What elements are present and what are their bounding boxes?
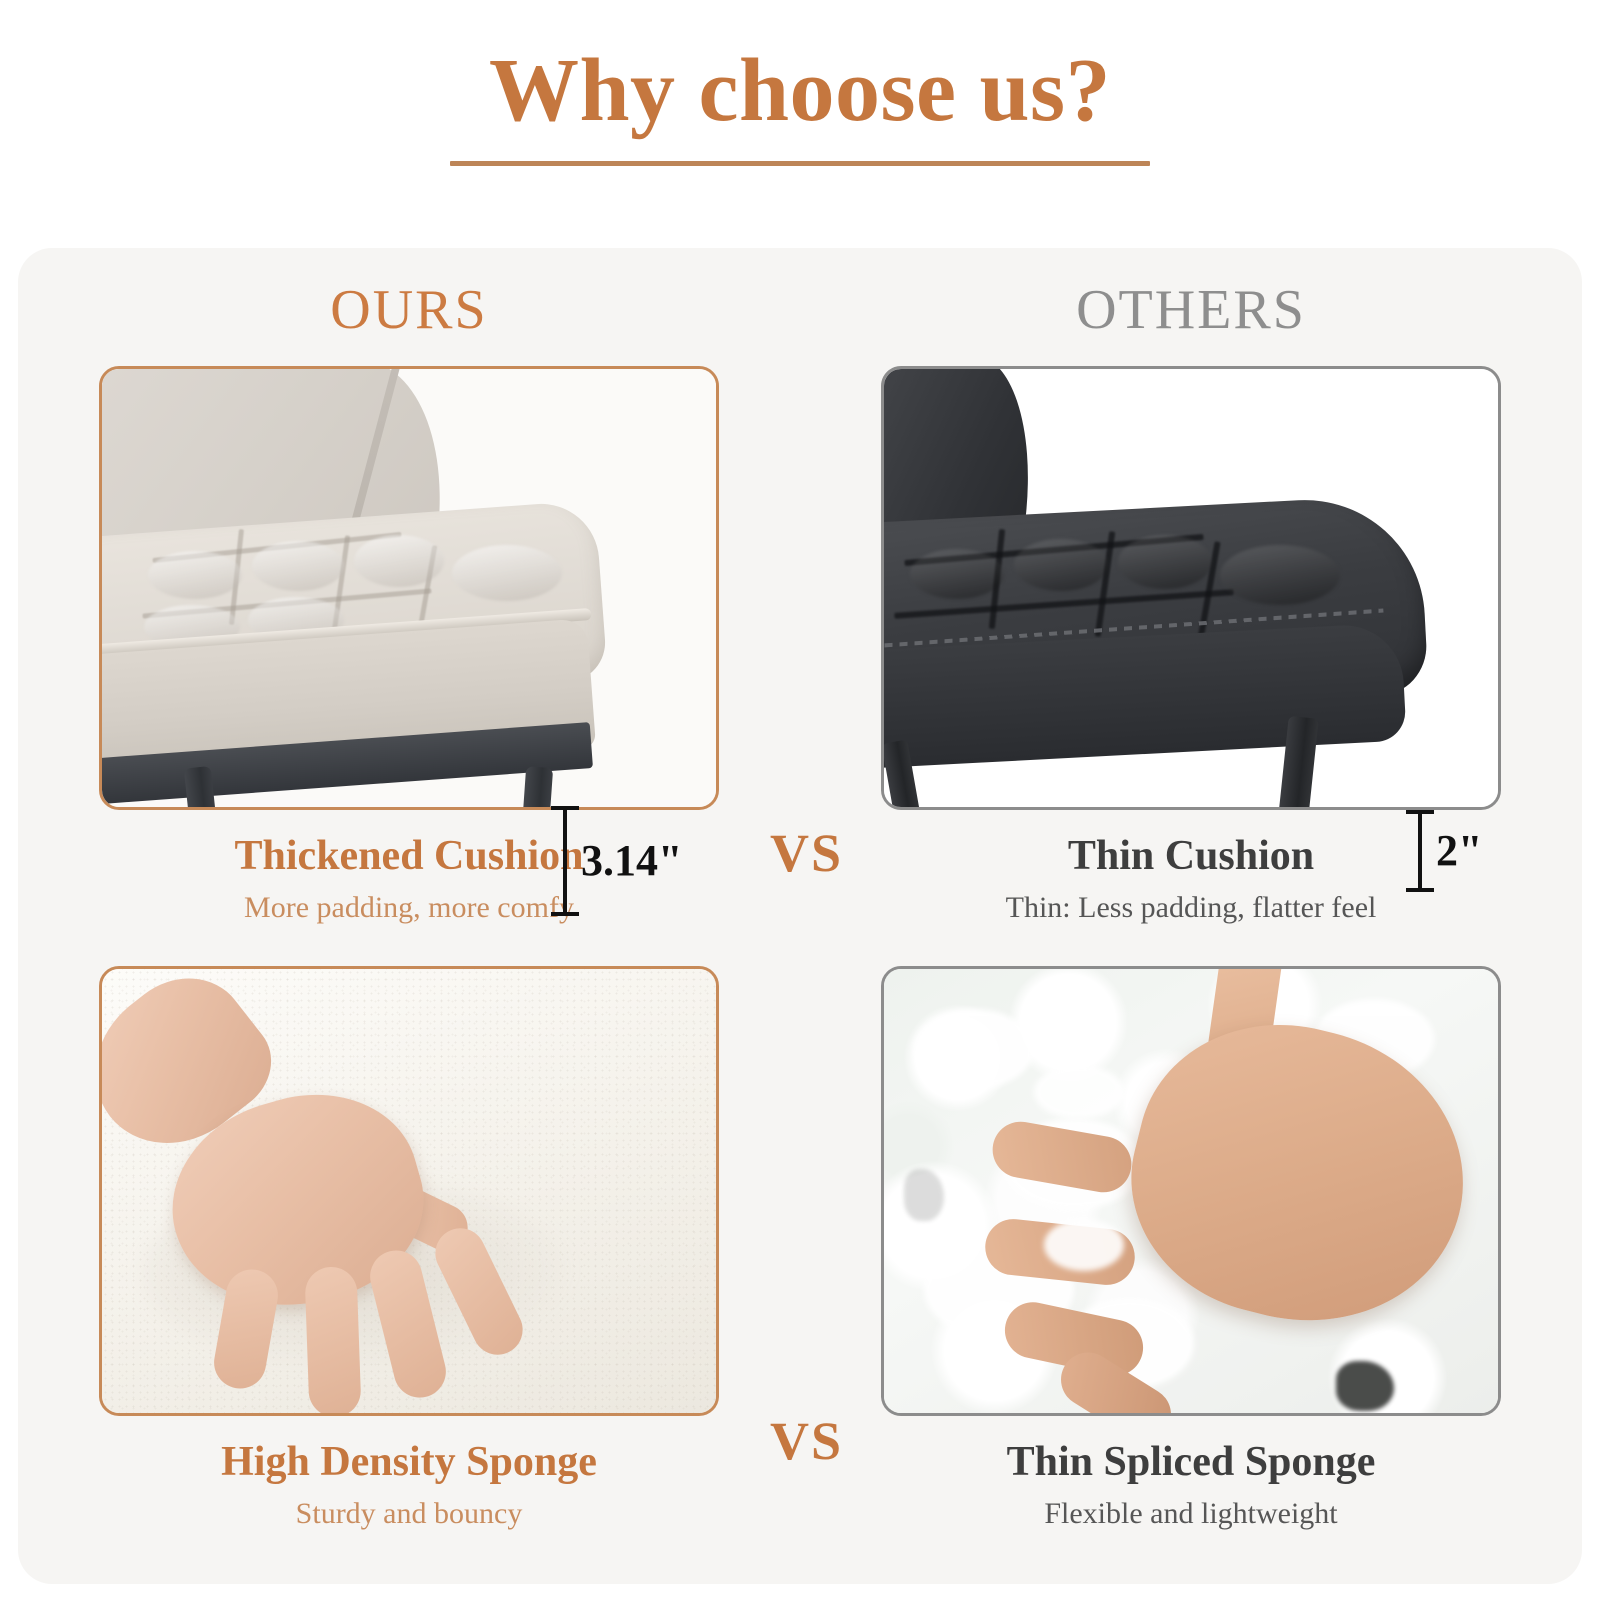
vs-badge-bottom: VS [770, 1414, 843, 1468]
infographic-page: Why choose us? OURS OTHERS [0, 0, 1600, 1600]
fiber-wisp [1034, 1065, 1124, 1119]
finger [304, 1266, 361, 1413]
cushion-tuft [1118, 535, 1212, 589]
cushion-tuft [252, 541, 344, 591]
cell-ours-cushion: Thickened Cushion More padding, more com… [18, 366, 800, 926]
comparison-panel: OURS OTHERS [18, 248, 1582, 1584]
page-title: Why choose us? [489, 44, 1111, 139]
cushion-tuft [1220, 545, 1340, 605]
dimension-label: 2" [1436, 829, 1482, 873]
column-headings: OURS OTHERS [18, 282, 1582, 356]
caption-subtitle: Thin: Less padding, flatter feel [871, 890, 1511, 926]
cushion-tuft [354, 535, 444, 587]
cushion-tuft [452, 545, 562, 601]
fiber-speck [1336, 1361, 1394, 1411]
title-underline-rule [450, 161, 1150, 166]
caption-others-cushion: Thin Cushion Thin: Less padding, flatter… [871, 832, 1511, 926]
cushion-front-face [884, 622, 1407, 769]
column-heading-ours: OURS [18, 282, 800, 356]
caption-title: Thin Spliced Sponge [871, 1438, 1511, 1486]
photo-thickened-cushion [102, 369, 716, 807]
cushion-tuft [910, 549, 1004, 599]
fiber-wisp [914, 1009, 1034, 1089]
column-heading-others: OTHERS [800, 282, 1582, 356]
fiber-wisp [1044, 1219, 1124, 1271]
cell-others-sponge: Thin Spliced Sponge Flexible and lightwe… [800, 966, 1582, 1546]
caption-subtitle: Flexible and lightweight [871, 1496, 1511, 1532]
cell-ours-sponge: High Density Sponge Sturdy and bouncy [18, 966, 800, 1546]
image-frame-ours-cushion [99, 366, 719, 810]
dimension-label: 3.14" [581, 839, 682, 883]
caption-others-sponge: Thin Spliced Sponge Flexible and lightwe… [871, 1438, 1511, 1532]
dimension-marker-others: 2" [1418, 810, 1482, 892]
caption-ours-sponge: High Density Sponge Sturdy and bouncy [89, 1438, 729, 1532]
caption-subtitle: Sturdy and bouncy [89, 1496, 729, 1532]
dimension-line [563, 806, 567, 916]
image-frame-ours-sponge [99, 966, 719, 1416]
image-frame-others-cushion [881, 366, 1501, 810]
photo-thin-spliced-sponge [884, 969, 1498, 1413]
image-frame-others-sponge [881, 966, 1501, 1416]
photo-thin-cushion [884, 369, 1498, 807]
photo-high-density-sponge [102, 969, 716, 1413]
dimension-line [1418, 810, 1422, 892]
dimension-marker-ours: 3.14" [563, 806, 682, 916]
cushion-tuft [1014, 539, 1108, 591]
vs-badge-top: VS [770, 826, 843, 880]
caption-title: High Density Sponge [89, 1438, 729, 1486]
caption-title: Thin Cushion [871, 832, 1511, 880]
header: Why choose us? [0, 0, 1600, 248]
cushion-tuft [148, 551, 242, 599]
